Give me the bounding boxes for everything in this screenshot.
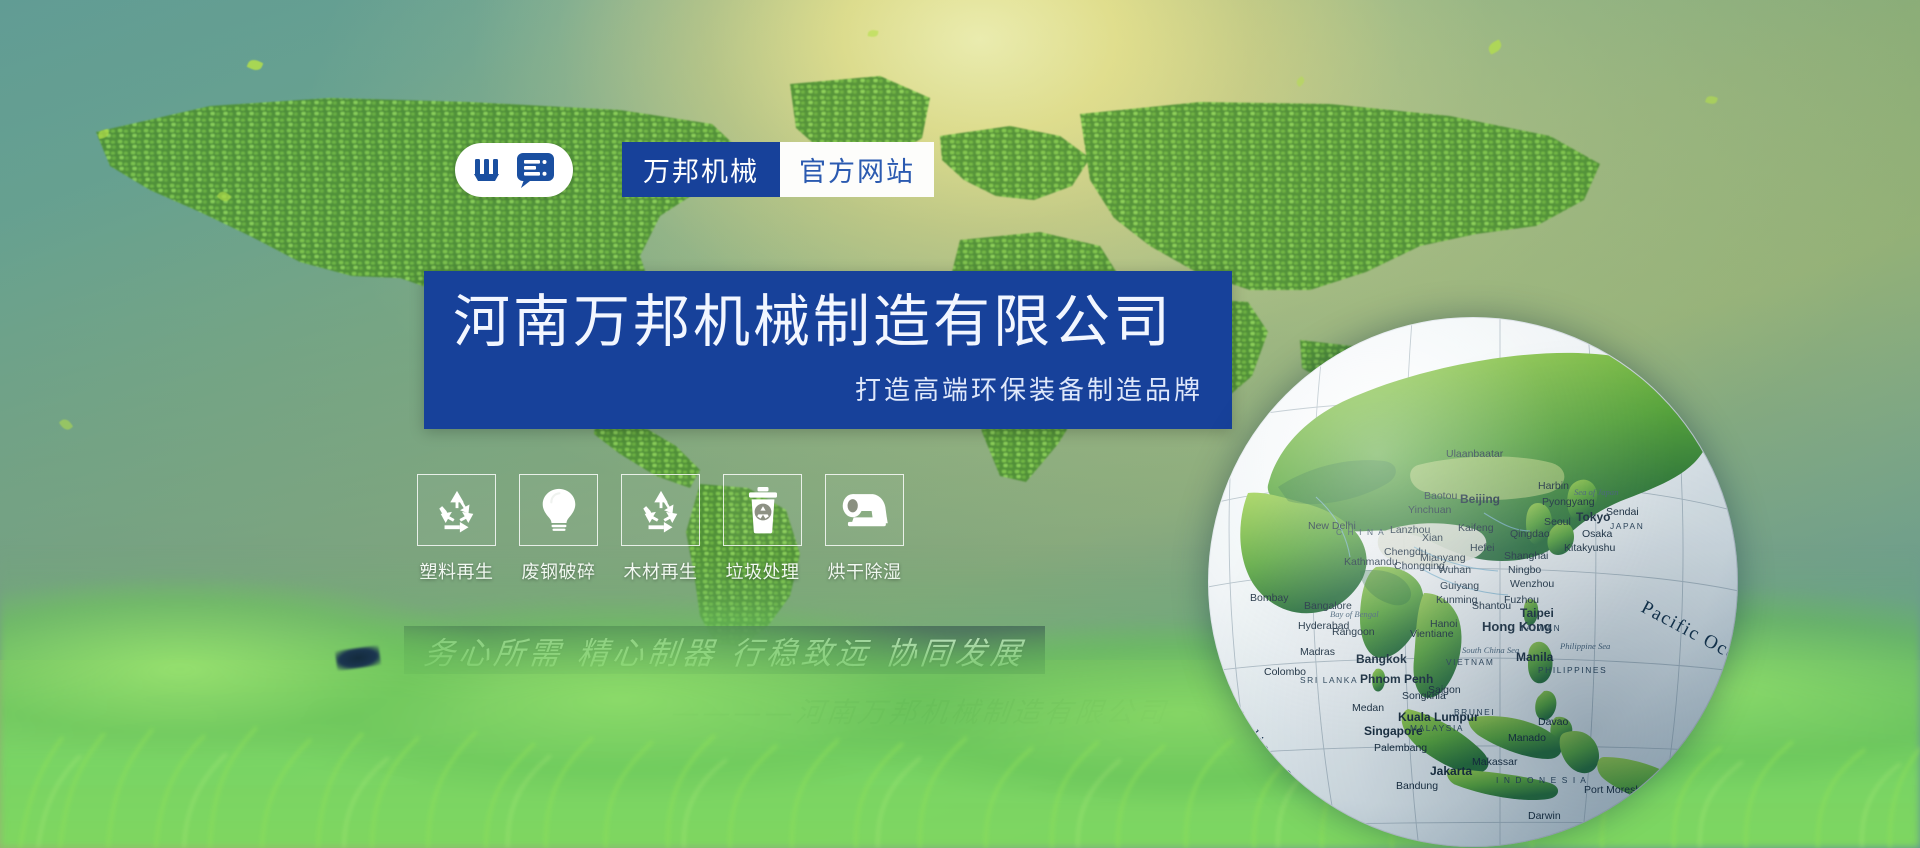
- svg-text:Jakarta: Jakarta: [1430, 764, 1472, 778]
- svg-text:Kathmandu: Kathmandu: [1344, 556, 1398, 568]
- svg-text:Shantou: Shantou: [1472, 600, 1511, 612]
- svg-text:JAPAN: JAPAN: [1610, 521, 1644, 531]
- svg-text:Beijing: Beijing: [1460, 492, 1500, 506]
- page-title: 河南万邦机械制造有限公司: [453, 293, 1173, 352]
- svg-text:Manila: Manila: [1516, 650, 1554, 664]
- trash-recycle-icon: [745, 486, 781, 534]
- svg-text:SRI LANKA: SRI LANKA: [1300, 675, 1358, 685]
- dryer-icon: [840, 492, 890, 528]
- svg-text:I N D O N E S I A: I N D O N E S I A: [1496, 775, 1587, 785]
- svg-text:South China Sea: South China Sea: [1462, 645, 1519, 655]
- svg-text:Kitakyushu: Kitakyushu: [1564, 542, 1616, 554]
- svg-text:Bay of Bengal: Bay of Bengal: [1330, 609, 1379, 619]
- svg-text:Philippine Sea: Philippine Sea: [1559, 641, 1610, 651]
- svg-text:Phnom Penh: Phnom Penh: [1360, 672, 1433, 686]
- svg-text:Sea of Japan: Sea of Japan: [1574, 487, 1618, 497]
- svg-text:Baotou: Baotou: [1424, 490, 1457, 502]
- svg-text:Sendai: Sendai: [1606, 506, 1639, 518]
- svg-text:Makassar: Makassar: [1472, 756, 1518, 768]
- svg-text:Ulaanbaatar: Ulaanbaatar: [1446, 448, 1504, 460]
- svg-text:Guiyang: Guiyang: [1440, 580, 1479, 592]
- svg-text:Bangkok: Bangkok: [1356, 652, 1407, 666]
- feature-icon-box: [417, 474, 496, 546]
- svg-text:Shanghai: Shanghai: [1504, 550, 1548, 562]
- hero-title-panel: 河南万邦机械制造有限公司 打造高端环保装备制造品牌: [424, 271, 1232, 429]
- feature-icon-box: [519, 474, 598, 546]
- svg-text:Kaifeng: Kaifeng: [1458, 522, 1494, 534]
- svg-text:Taipei: Taipei: [1520, 606, 1554, 620]
- svg-text:Darwin: Darwin: [1528, 810, 1561, 822]
- svg-text:BRUNEI: BRUNEI: [1454, 707, 1495, 717]
- svg-text:VIETNAM: VIETNAM: [1446, 657, 1494, 667]
- svg-text:Madras: Madras: [1300, 646, 1335, 658]
- svg-text:C H I N A: C H I N A: [1336, 527, 1385, 537]
- feature-icon-box: [621, 474, 700, 546]
- e-bubble-icon: [515, 151, 555, 189]
- svg-text:MALAYSIA: MALAYSIA: [1410, 723, 1464, 733]
- svg-text:TAIWAN: TAIWAN: [1520, 623, 1561, 633]
- feature-icon-box: [723, 474, 802, 546]
- svg-text:Wenzhou: Wenzhou: [1510, 578, 1554, 590]
- svg-text:Yinchuan: Yinchuan: [1408, 504, 1452, 516]
- svg-text:Ningbo: Ningbo: [1508, 564, 1541, 576]
- svg-text:Hefei: Hefei: [1470, 542, 1495, 554]
- svg-text:Xian: Xian: [1422, 532, 1443, 544]
- feature-icon-box: [825, 474, 904, 546]
- svg-text:Kunming: Kunming: [1436, 594, 1478, 606]
- svg-text:Bombay: Bombay: [1250, 592, 1289, 604]
- svg-text:PHILIPPINES: PHILIPPINES: [1538, 665, 1607, 675]
- recycle-icon: [638, 487, 684, 533]
- svg-text:Seoul: Seoul: [1544, 516, 1571, 528]
- svg-text:Osaka: Osaka: [1582, 528, 1613, 540]
- svg-text:Rangoon: Rangoon: [1332, 626, 1375, 638]
- header-logo-row: 万邦机械 官方网站: [455, 142, 934, 197]
- svg-text:Port Moresby: Port Moresby: [1584, 784, 1647, 796]
- nav-official-site[interactable]: 官方网站: [780, 142, 934, 197]
- header-nav: 万邦机械 官方网站: [622, 142, 934, 197]
- nav-brand[interactable]: 万邦机械: [622, 142, 780, 197]
- svg-text:Hanoi: Hanoi: [1430, 618, 1457, 630]
- hero-tagline: 打造高端环保装备制造品牌: [855, 370, 1203, 407]
- hero-banner: 万邦机械 官方网站 河南万邦机械制造有限公司 打造高端环保装备制造品牌: [0, 0, 1920, 848]
- svg-text:Harbin: Harbin: [1538, 480, 1569, 492]
- wanbang-logo[interactable]: [455, 143, 573, 197]
- svg-text:Palembang: Palembang: [1374, 742, 1427, 754]
- svg-text:Qingdao: Qingdao: [1510, 528, 1550, 540]
- w-mark-icon: [473, 154, 509, 186]
- globe-graphic: Pacific Ocean Indian Ocean Ulaanbaatar B…: [1208, 317, 1738, 847]
- svg-text:Songkhla: Songkhla: [1402, 690, 1446, 702]
- svg-text:Manado: Manado: [1508, 732, 1546, 744]
- svg-text:Wuhan: Wuhan: [1438, 564, 1471, 576]
- svg-text:Bandung: Bandung: [1396, 780, 1438, 792]
- recycle-icon: [434, 487, 480, 533]
- svg-text:Davao: Davao: [1538, 716, 1569, 728]
- svg-text:Medan: Medan: [1352, 702, 1384, 714]
- lightbulb-icon: [538, 487, 580, 533]
- svg-text:Pyongyang: Pyongyang: [1542, 496, 1595, 508]
